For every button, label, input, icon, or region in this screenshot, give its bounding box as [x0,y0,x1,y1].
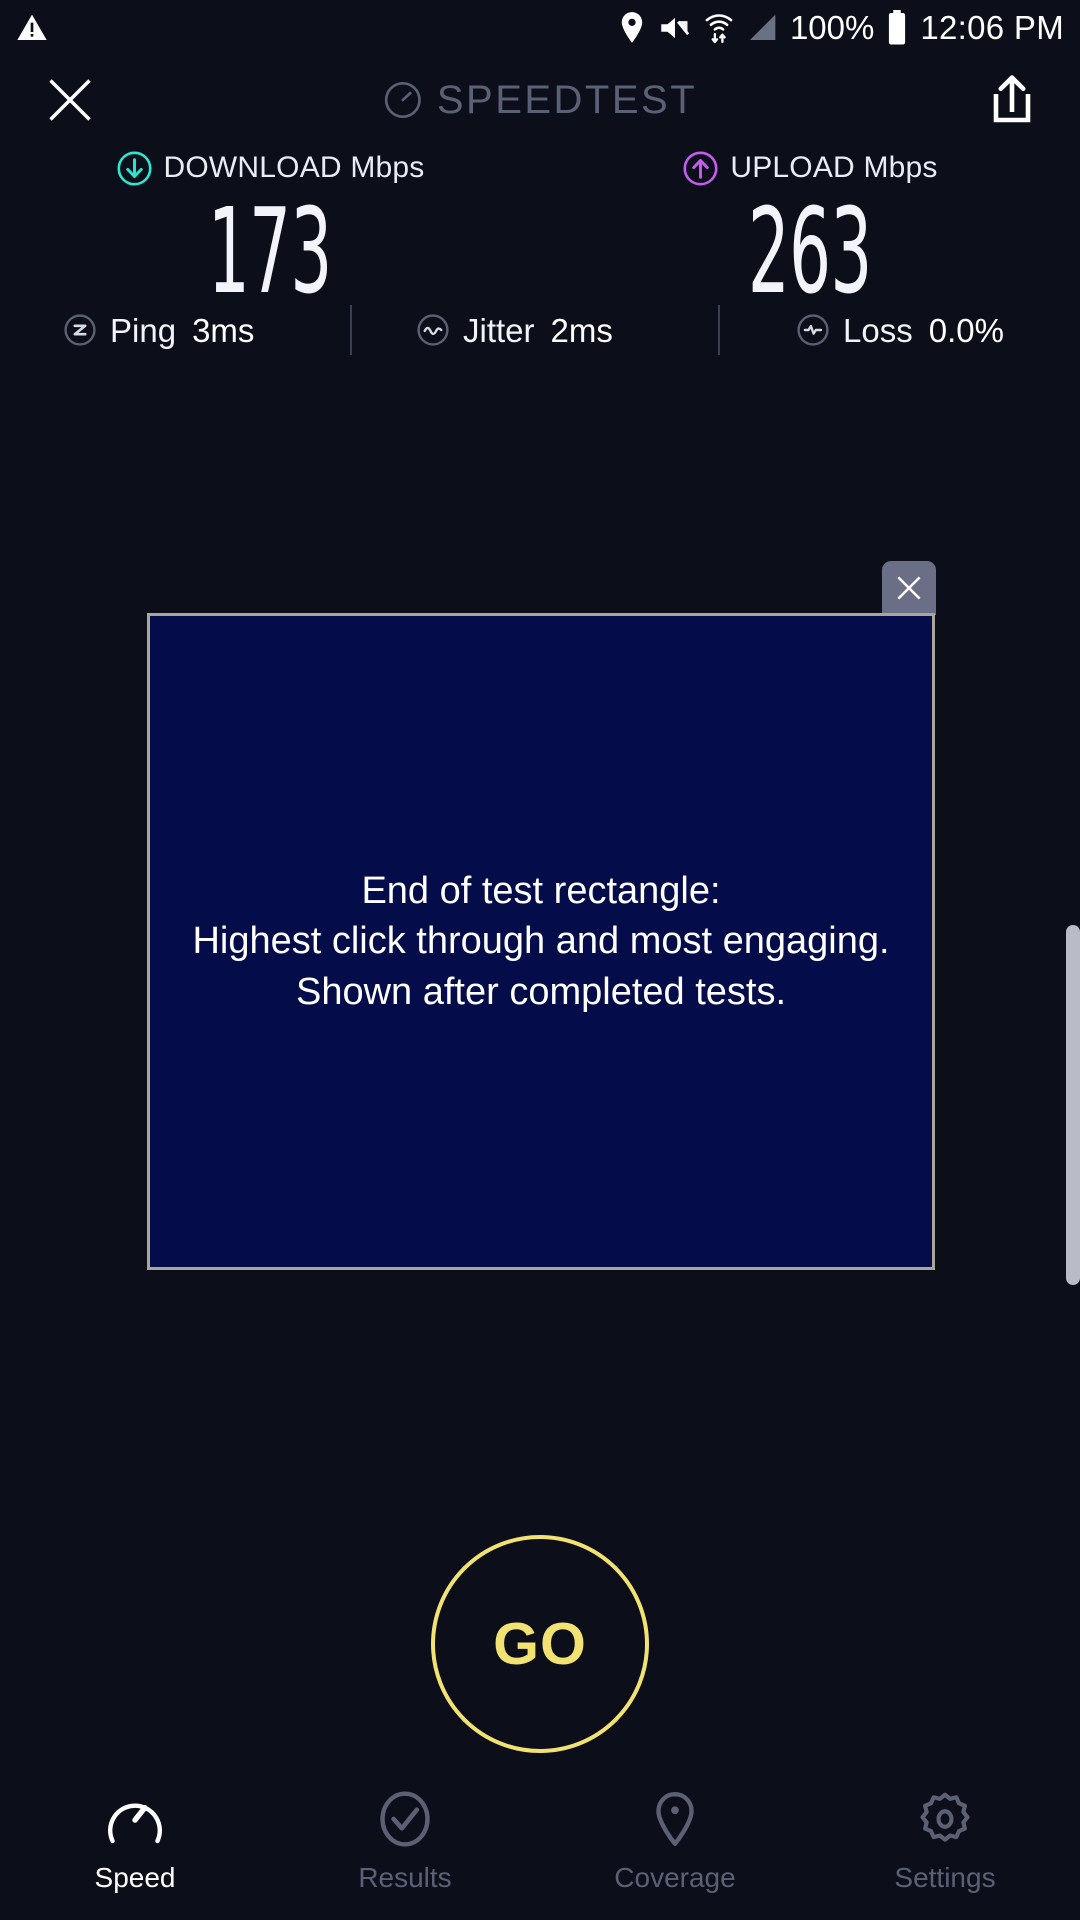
go-button-label: GO [493,1615,587,1674]
nav-item-results[interactable]: Results [270,1760,540,1920]
share-button[interactable] [984,70,1040,130]
app-title-group: SPEEDTEST [383,80,697,120]
battery-percent-label: 100% [790,11,874,44]
nav-item-speed[interactable]: Speed [0,1760,270,1920]
nav-item-settings[interactable]: Settings [810,1760,1080,1920]
upload-value: 263 [748,195,872,307]
download-metric: DOWNLOAD Mbps 173 [0,145,540,307]
ad-body-text: End of test rectangle: Highest click thr… [182,866,899,1018]
cell-signal-icon [746,13,778,43]
arrow-up-circle-icon [682,150,719,187]
upload-metric: UPLOAD Mbps 263 [540,145,1080,307]
location-pin-icon [618,11,646,45]
gear-icon [914,1788,976,1850]
nav-label-speed: Speed [95,1864,176,1892]
location-pin-icon [644,1788,706,1850]
bottom-navigation-bar: Speed Results Coverage Settings [0,1760,1080,1920]
results-summary: DOWNLOAD Mbps 173 UPLOAD Mbps 263 [0,145,1080,307]
wifi-transfer-icon [704,11,734,45]
loss-value: 0.0% [929,314,1004,347]
jitter-label: Jitter [463,314,535,347]
download-label: DOWNLOAD Mbps [164,153,425,183]
download-upload-row: DOWNLOAD Mbps 173 UPLOAD Mbps 263 [0,145,1080,307]
volume-mute-icon [658,13,692,43]
nav-item-coverage[interactable]: Coverage [540,1760,810,1920]
go-button[interactable]: GO [431,1535,649,1753]
status-bar-right: 100% 12:06 PM [618,10,1064,46]
advertisement-banner[interactable]: End of test rectangle: Highest click thr… [147,613,935,1270]
close-button[interactable] [38,68,102,132]
status-bar-left [16,12,48,44]
download-value: 173 [208,195,332,307]
app-header: SPEEDTEST [0,55,1080,145]
ping-value: 3ms [192,314,254,347]
loss-icon [795,312,831,348]
speedometer-icon [104,1788,166,1850]
close-icon [44,74,96,126]
arrow-down-circle-icon [116,150,153,187]
nav-label-settings: Settings [894,1864,995,1892]
speedtest-app-screen: 100% 12:06 PM SPEEDTEST [0,0,1080,1920]
stats-divider-2 [718,305,720,355]
stat-ping: Ping 3ms [62,312,254,348]
stats-divider-1 [350,305,352,355]
stat-jitter: Jitter 2ms [415,312,613,348]
ad-close-icon [893,572,925,604]
stat-loss: Loss 0.0% [795,312,1004,348]
network-stats-row: Ping 3ms Jitter 2ms Loss 0.0% [0,300,1080,360]
vertical-scrollbar-thumb[interactable] [1066,925,1080,1285]
status-bar: 100% 12:06 PM [0,0,1080,55]
loss-label: Loss [843,314,913,347]
speedtest-gauge-icon [383,80,423,120]
jitter-value: 2ms [551,314,613,347]
nav-label-results: Results [358,1864,451,1892]
warning-triangle-icon [16,12,48,44]
check-circle-icon [374,1788,436,1850]
battery-full-icon [886,10,908,46]
ping-icon [62,312,98,348]
jitter-icon [415,312,451,348]
clock-label: 12:06 PM [920,11,1064,44]
upload-label: UPLOAD Mbps [730,153,937,183]
ping-label: Ping [110,314,176,347]
share-upload-icon [989,74,1035,126]
nav-label-coverage: Coverage [614,1864,735,1892]
page-title: SPEEDTEST [437,80,697,120]
ad-close-button[interactable] [882,561,936,615]
